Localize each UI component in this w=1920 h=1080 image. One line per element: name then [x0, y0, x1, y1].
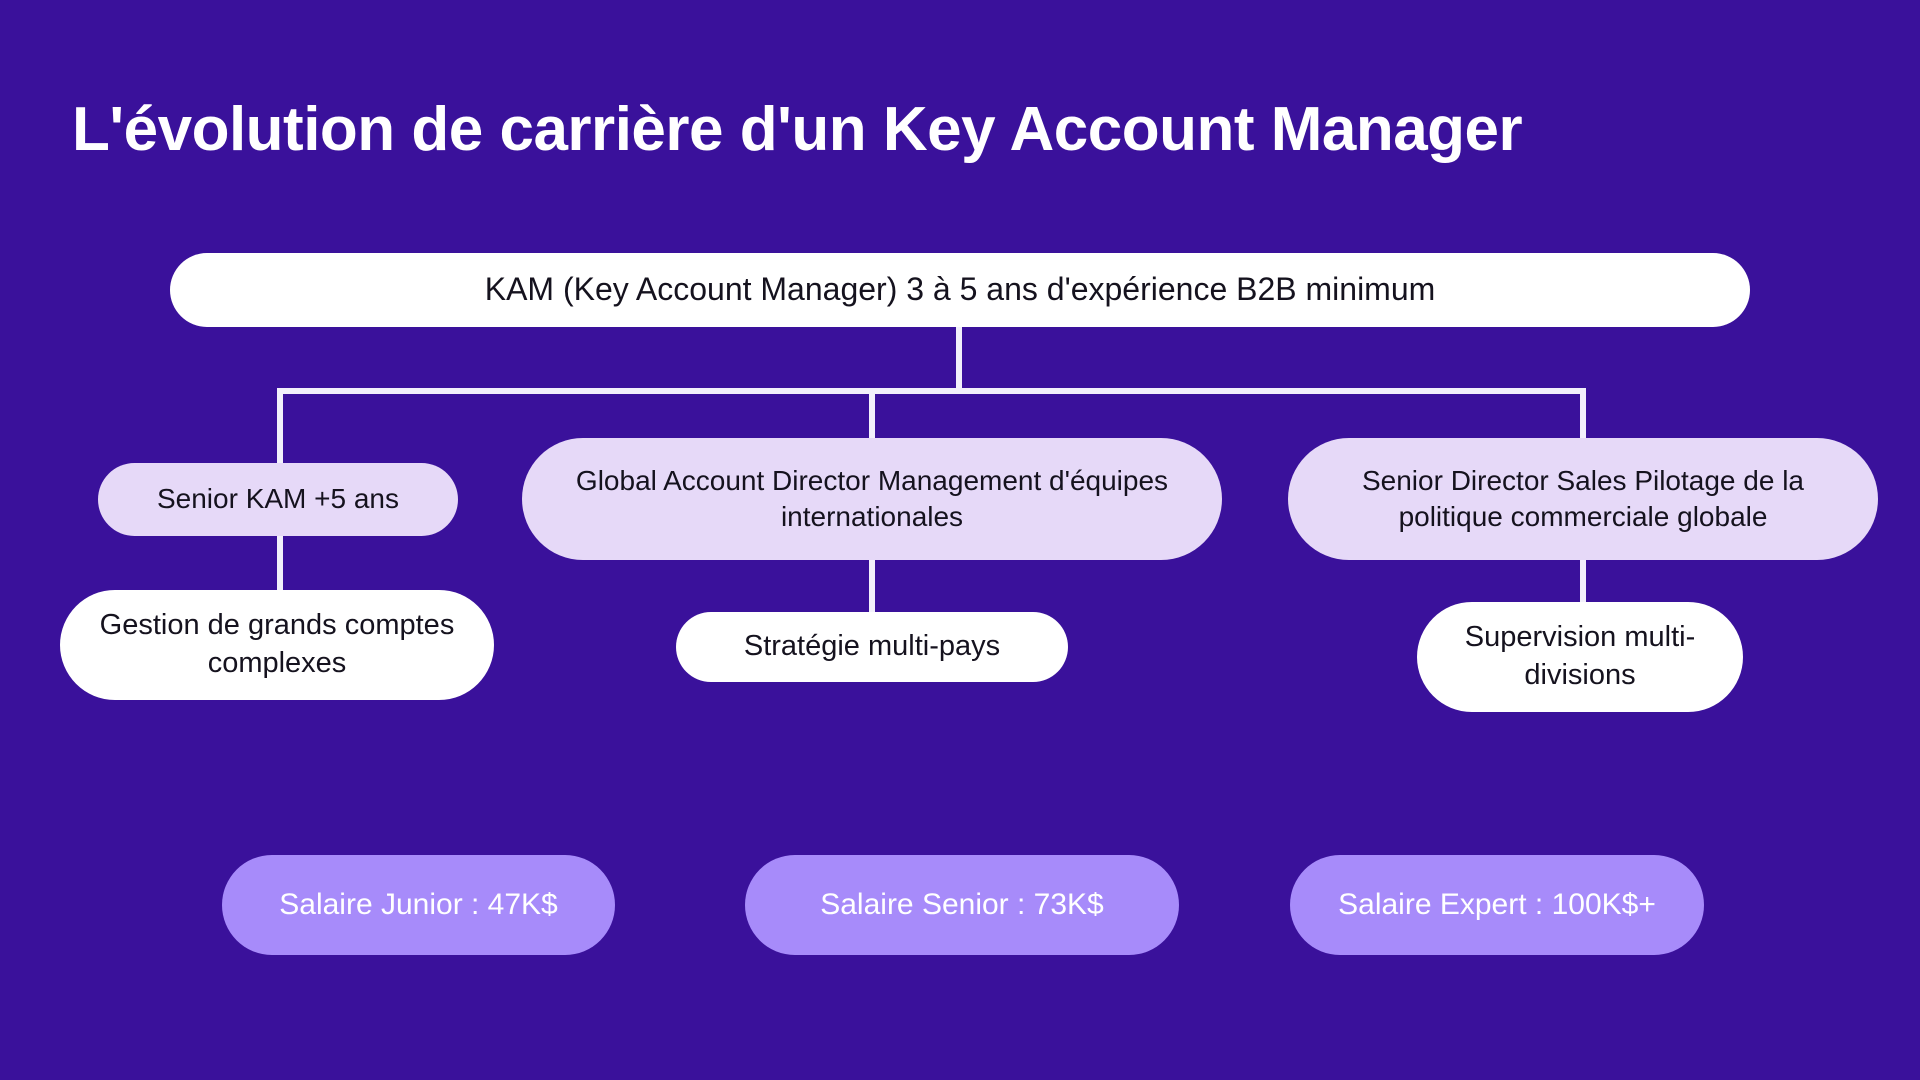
node-role-senior-director-sales[interactable]: Senior Director Sales Pilotage de la pol…	[1288, 438, 1878, 560]
connector-horizontal-bar	[277, 388, 1586, 394]
connector-detail-1-stem	[277, 534, 283, 596]
connector-detail-2-stem	[869, 558, 875, 620]
node-role-senior-kam[interactable]: Senior KAM +5 ans	[98, 463, 458, 536]
connector-branch-1-drop	[277, 388, 283, 466]
node-root-kam[interactable]: KAM (Key Account Manager) 3 à 5 ans d'ex…	[170, 253, 1750, 327]
salary-badge-senior[interactable]: Salaire Senior : 73K$	[745, 855, 1179, 955]
salary-badge-junior[interactable]: Salaire Junior : 47K$	[222, 855, 615, 955]
node-role-global-account-director[interactable]: Global Account Director Management d'équ…	[522, 438, 1222, 560]
connector-root-stem	[956, 327, 962, 391]
node-detail-gestion-grands-comptes[interactable]: Gestion de grands comptes complexes	[60, 590, 494, 700]
connector-branch-3-drop	[1580, 388, 1586, 444]
diagram-canvas: L'évolution de carrière d'un Key Account…	[0, 0, 1920, 1080]
salary-badge-expert[interactable]: Salaire Expert : 100K$+	[1290, 855, 1704, 955]
connector-branch-2-drop	[869, 388, 875, 444]
node-detail-strategie-multi-pays[interactable]: Stratégie multi-pays	[676, 612, 1068, 682]
node-detail-supervision-multi-divisions[interactable]: Supervision multi-divisions	[1417, 602, 1743, 712]
page-title: L'évolution de carrière d'un Key Account…	[72, 96, 1862, 164]
